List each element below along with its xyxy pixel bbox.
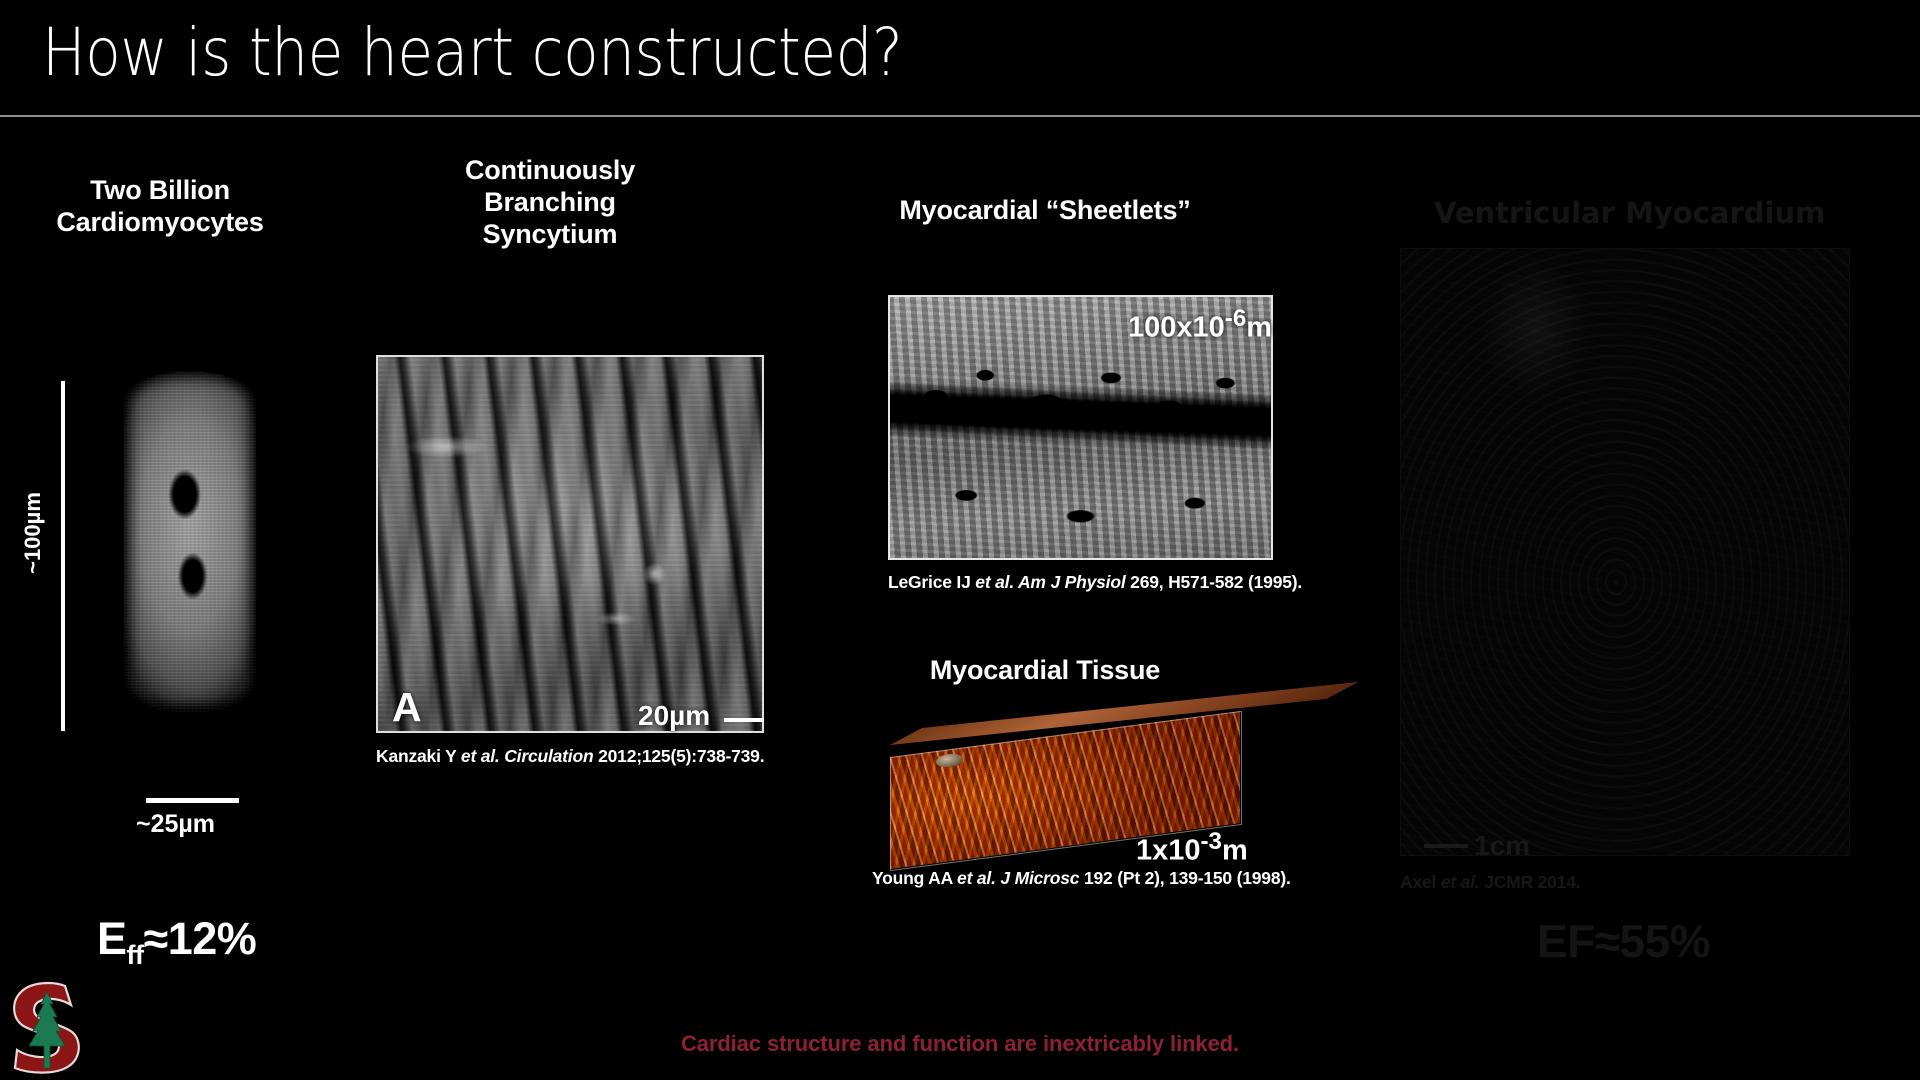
panel-letter-a: A bbox=[392, 684, 422, 731]
citation-journal: et al. bbox=[1441, 872, 1484, 892]
citation-detail: JCMR 2014. bbox=[1484, 872, 1580, 892]
column-heading-ventricular-myocardium: Ventricular Myocardium bbox=[1434, 196, 1825, 230]
scale-exponent: -6 bbox=[1225, 305, 1246, 332]
horizontal-scale-label: ~25µm bbox=[136, 810, 215, 839]
cardiomyocyte-micrograph bbox=[124, 372, 256, 712]
citation-detail: 269, H571-582 (1995). bbox=[1130, 572, 1302, 592]
scale-unit: m bbox=[1246, 312, 1272, 344]
syncytium-scale-label: 20µm bbox=[638, 700, 710, 732]
stanford-s-tree-icon bbox=[8, 980, 86, 1075]
vertical-scale-label: ~100µm bbox=[20, 473, 46, 593]
scale-unit: m bbox=[1222, 835, 1248, 867]
column-heading-cardiomyocytes: Two Billion Cardiomyocytes bbox=[30, 175, 290, 239]
heading-line-2: Branching bbox=[400, 187, 700, 219]
citation-kanzaki: Kanzaki Y et al. Circulation 2012;125(5)… bbox=[376, 746, 764, 767]
citation-journal: et al. J Microsc bbox=[957, 868, 1084, 888]
citation-detail: 192 (Pt 2), 139-150 (1998). bbox=[1084, 868, 1291, 888]
citation-journal: et al. Circulation bbox=[461, 746, 598, 766]
syncytium-sem-micrograph bbox=[376, 355, 764, 733]
title-divider bbox=[0, 115, 1920, 117]
efficiency-value: Eff≈12% bbox=[97, 913, 256, 971]
syncytium-scale-bar bbox=[724, 718, 764, 722]
column-heading-syncytium: Continuously Branching Syncytium bbox=[400, 155, 700, 251]
ventricular-myocardium-dti-image bbox=[1400, 248, 1850, 856]
ventricular-scale-bar bbox=[1424, 844, 1468, 848]
page-title: How is the heart constructed? bbox=[42, 14, 902, 91]
stanford-logo bbox=[8, 980, 86, 1075]
citation-young: Young AA et al. J Microsc 192 (Pt 2), 13… bbox=[872, 868, 1291, 889]
sheetlets-scale-label: 100x10-6m bbox=[1128, 305, 1272, 345]
heading-line-1: Two Billion bbox=[30, 175, 290, 207]
heading-line-3: Syncytium bbox=[400, 219, 700, 251]
horizontal-scale-bar bbox=[146, 798, 239, 803]
column-heading-sheetlets: Myocardial “Sheetlets” bbox=[830, 195, 1260, 227]
scale-base: 1x10 bbox=[1136, 835, 1201, 867]
ejection-fraction-value: EF≈55% bbox=[1537, 914, 1710, 968]
footer-takeaway-note: Cardiac structure and function are inext… bbox=[0, 1031, 1920, 1057]
efficiency-symbol: E bbox=[97, 913, 127, 964]
citation-author: Kanzaki Y bbox=[376, 746, 461, 766]
citation-axel: Axel et al. JCMR 2014. bbox=[1400, 872, 1580, 893]
citation-author: LeGrice IJ bbox=[888, 572, 975, 592]
citation-legrice: LeGrice IJ et al. Am J Physiol 269, H571… bbox=[888, 572, 1302, 593]
heading-line-2: Cardiomyocytes bbox=[30, 207, 290, 239]
efficiency-number: ≈12% bbox=[144, 913, 257, 964]
scale-exponent: -3 bbox=[1201, 828, 1222, 855]
column-heading-tissue: Myocardial Tissue bbox=[840, 655, 1250, 687]
efficiency-subscript: ff bbox=[127, 940, 144, 970]
tissue-scale-label: 1x10-3m bbox=[1136, 828, 1248, 868]
ventricular-scale-label: 1cm bbox=[1474, 830, 1530, 862]
citation-journal: et al. Am J Physiol bbox=[975, 572, 1130, 592]
citation-author: Axel bbox=[1400, 872, 1441, 892]
heading-line-1: Continuously bbox=[400, 155, 700, 187]
citation-author: Young AA bbox=[872, 868, 957, 888]
citation-detail: 2012;125(5):738-739. bbox=[598, 746, 764, 766]
scale-base: 100x10 bbox=[1128, 312, 1225, 344]
vertical-scale-bar bbox=[61, 381, 65, 731]
cardiomyocyte-cell-image bbox=[124, 372, 256, 712]
